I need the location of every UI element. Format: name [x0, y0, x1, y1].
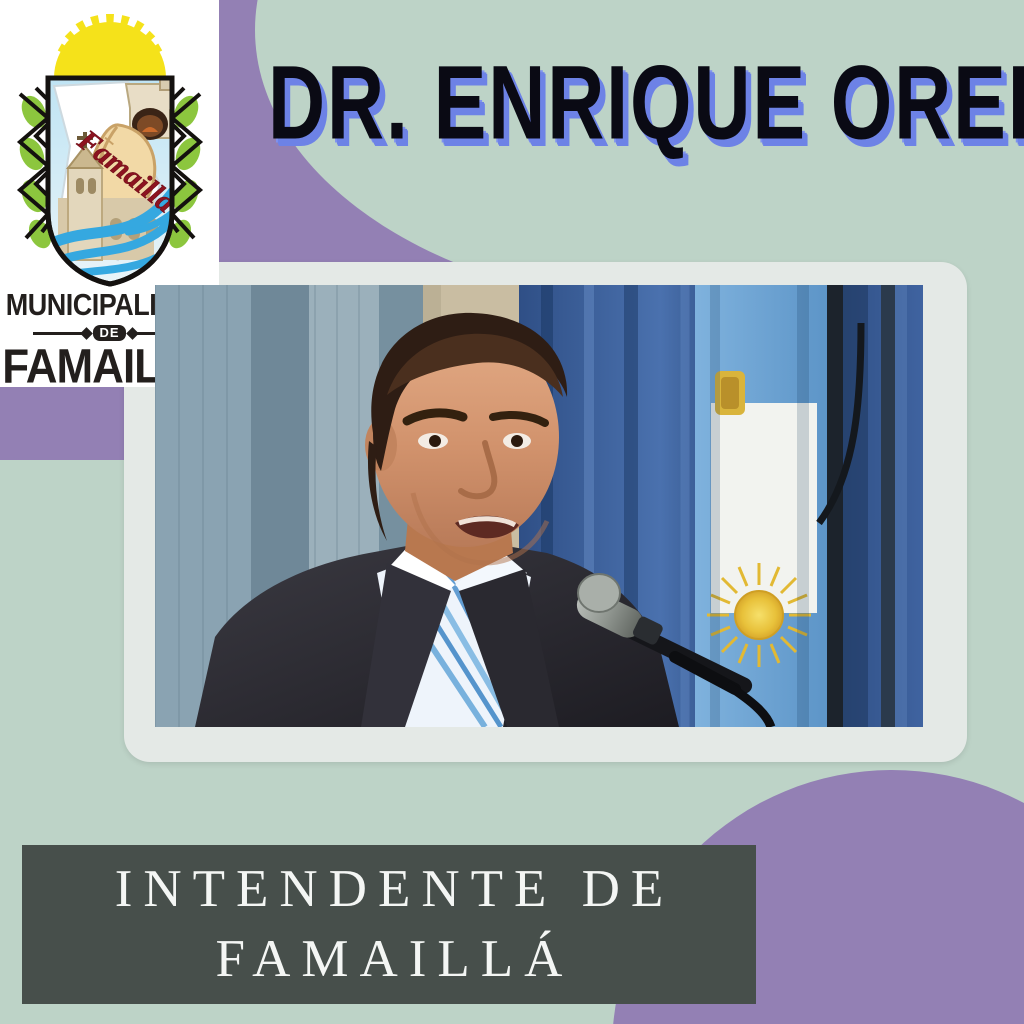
- poster-canvas: DR. ENRIQUE ORELLANA: [0, 0, 1024, 1024]
- caption-line-2: FAMAILLÁ: [205, 925, 574, 995]
- coat-of-arms-shield: Famaillá: [10, 72, 210, 290]
- argentine-flag: [695, 285, 827, 727]
- sun-rays-icon: [10, 6, 210, 78]
- rule-left: [33, 332, 89, 335]
- page-title: DR. ENRIQUE ORELLANA: [268, 52, 949, 155]
- speaker-photo-illustration: [155, 285, 923, 727]
- speaker-photo: [155, 285, 923, 727]
- caption-bar: INTENDENTE DE FAMAILLÁ: [22, 845, 756, 1004]
- caption-line-1: INTENDENTE DE: [104, 855, 675, 925]
